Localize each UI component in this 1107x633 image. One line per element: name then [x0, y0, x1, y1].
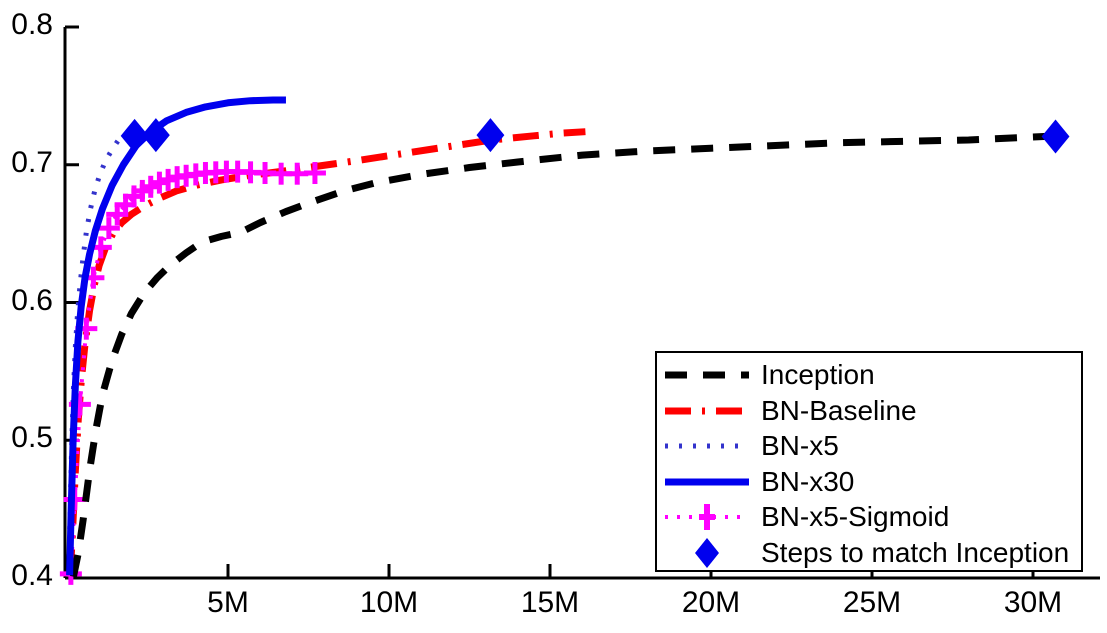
- legend-item-label: Inception: [757, 359, 875, 391]
- blue-solid-line-sample: [657, 464, 757, 500]
- legend-item-bn-baseline[interactable]: BN-Baseline: [657, 393, 1081, 429]
- legend-item-label: BN-x5-Sigmoid: [757, 501, 949, 533]
- legend-item-label: BN-x30: [757, 466, 854, 498]
- legend-item-bn-x30[interactable]: BN-x30: [657, 464, 1081, 500]
- legend-item-label: BN-x5: [757, 430, 839, 462]
- black-dashed-line-sample: [657, 357, 757, 393]
- blue-diamond-marker-sample: [657, 535, 757, 571]
- legend-item-bn-x5[interactable]: BN-x5: [657, 428, 1081, 464]
- chart-figure: 0.80.70.60.50.4 5M10M15M20M25M30M Incept…: [0, 0, 1107, 633]
- steps-to-match-inception-marker: [1042, 120, 1070, 154]
- legend: InceptionBN-BaselineBN-x5BN-x30BN-x5-Sig…: [655, 351, 1083, 572]
- x-axis-tick-label: 10M: [329, 588, 449, 618]
- legend-item-bn-x5-sigmoid[interactable]: BN-x5-Sigmoid: [657, 499, 1081, 535]
- x-axis-tick-label: 15M: [490, 588, 610, 618]
- blue-dotted-line-sample: [657, 428, 757, 464]
- y-axis-tick-label: 0.4: [0, 561, 53, 591]
- y-axis-tick-label: 0.5: [0, 423, 53, 453]
- y-axis-tick-label: 0.7: [0, 148, 53, 178]
- x-axis-tick-label: 25M: [812, 588, 932, 618]
- y-axis-tick-label: 0.6: [0, 286, 53, 316]
- red-dashdot-line-sample: [657, 393, 757, 429]
- legend-item-inception[interactable]: Inception: [657, 357, 1081, 393]
- legend-item-label: Steps to match Inception: [757, 537, 1069, 569]
- y-axis-tick-label: 0.8: [0, 10, 53, 40]
- x-axis-tick-label: 20M: [651, 588, 771, 618]
- x-axis-tick-label: 30M: [973, 588, 1093, 618]
- magenta-dotted-plus-sample: [657, 499, 757, 535]
- legend-item-steps-to-match-inception[interactable]: Steps to match Inception: [657, 535, 1081, 571]
- steps-to-match-inception-marker: [476, 118, 504, 152]
- legend-item-label: BN-Baseline: [757, 395, 917, 427]
- x-axis-tick-label: 5M: [168, 588, 288, 618]
